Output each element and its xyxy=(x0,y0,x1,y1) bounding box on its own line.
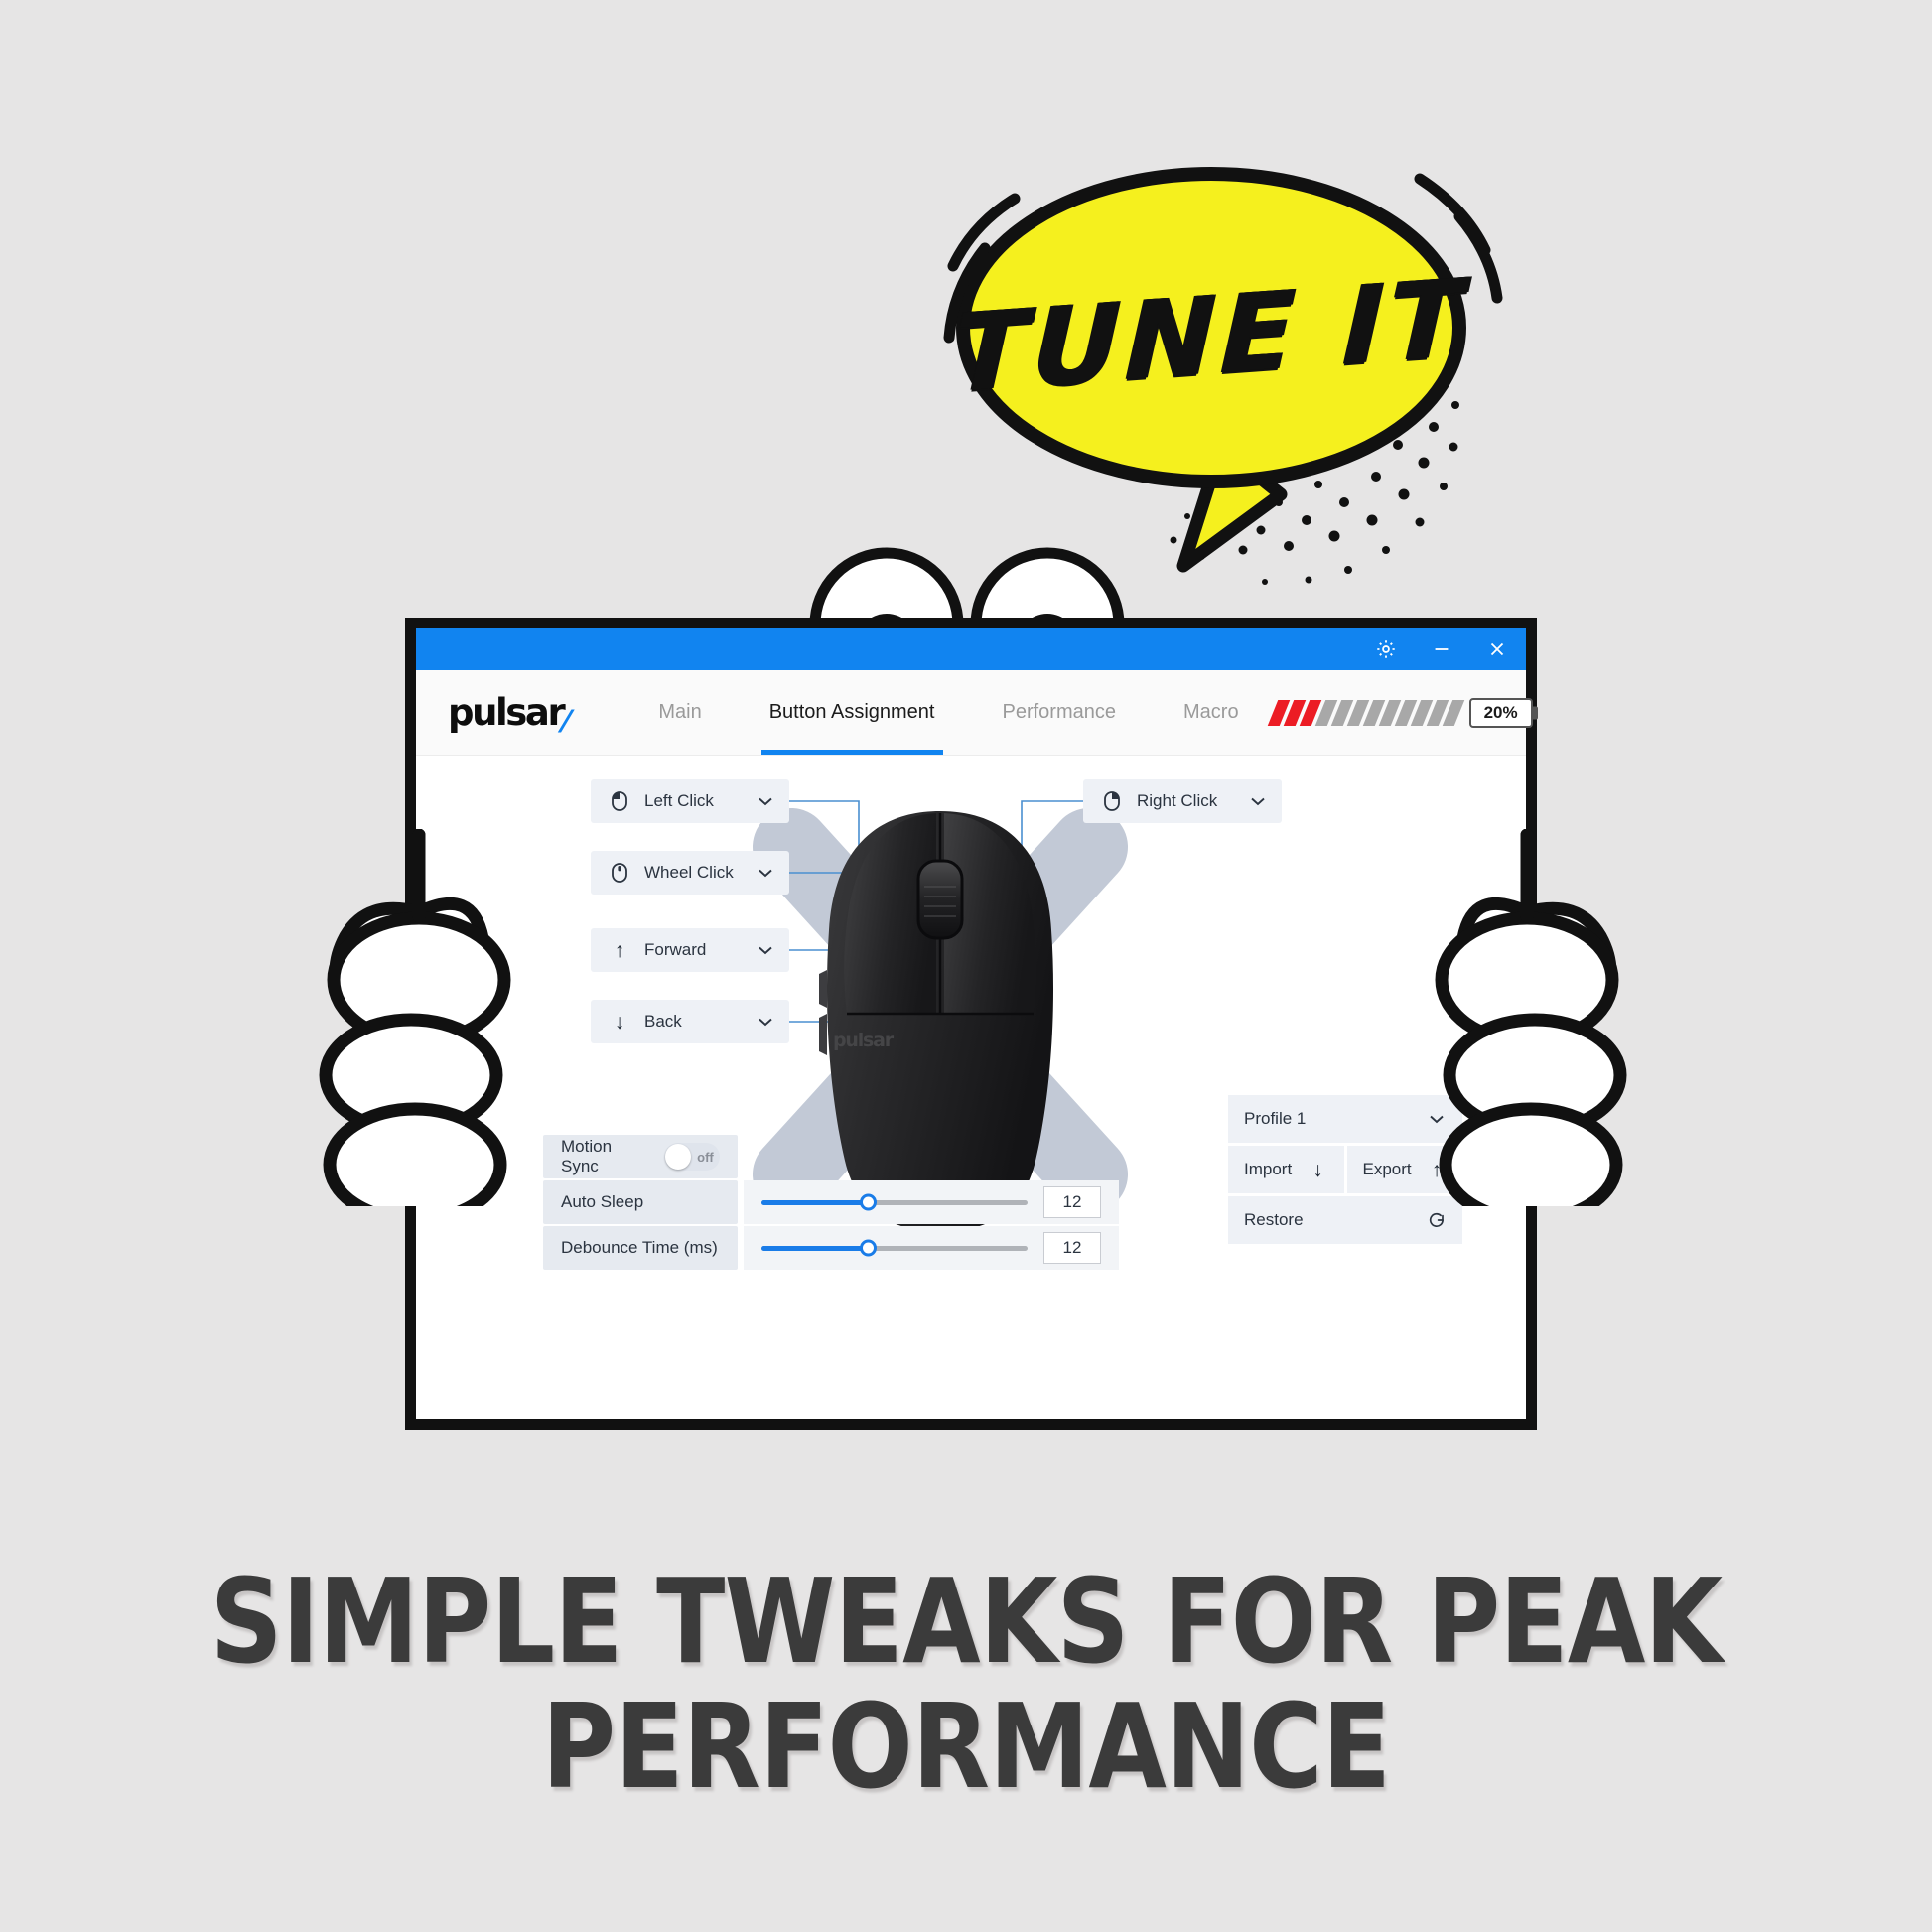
arrow-down-icon: ↓ xyxy=(609,1012,630,1033)
setting-auto-sleep: Auto Sleep 12 xyxy=(543,1180,1119,1224)
minimize-icon[interactable] xyxy=(1431,638,1452,660)
slider-knob[interactable] xyxy=(860,1240,877,1257)
restore-label: Restore xyxy=(1244,1210,1304,1230)
mouse-illustration: pulsar xyxy=(791,803,1089,1240)
auto-sleep-value[interactable]: 12 xyxy=(1043,1186,1101,1218)
nav-tabs: Main Button Assignment Performance Macro xyxy=(624,670,1272,755)
app-navbar: pulsar⁄ Main Button Assignment Performan… xyxy=(416,670,1526,756)
auto-sleep-slider[interactable] xyxy=(761,1200,1028,1205)
setting-debounce-time: Debounce Time (ms) 12 xyxy=(543,1226,1119,1270)
toggle-state-label: off xyxy=(697,1150,714,1165)
button-assignment-content: pulsar Left Click Wheel Click ↑ Forward xyxy=(416,756,1526,1419)
dropdown-label: Forward xyxy=(644,940,756,960)
window-titlebar xyxy=(416,628,1526,670)
chevron-down-icon[interactable] xyxy=(756,940,775,960)
tab-button-assignment[interactable]: Button Assignment xyxy=(736,670,969,755)
close-icon[interactable] xyxy=(1486,638,1508,660)
battery-indicator: 20% xyxy=(1273,698,1533,728)
mouse-left-button-icon xyxy=(609,791,630,811)
slider-fill xyxy=(761,1200,868,1205)
bolt-icon: ⁄ xyxy=(564,705,567,740)
tab-macro[interactable]: Macro xyxy=(1150,670,1273,755)
auto-sleep-slider-area: 12 xyxy=(744,1180,1119,1224)
svg-text:pulsar: pulsar xyxy=(833,1030,895,1051)
mouse-side-button-forward xyxy=(819,970,827,1008)
cartoon-hand-right xyxy=(1410,829,1638,1206)
motion-sync-toggle[interactable]: off xyxy=(664,1143,720,1171)
dropdown-left-click[interactable]: Left Click xyxy=(591,779,789,823)
toggle-knob xyxy=(665,1144,691,1170)
chevron-down-icon[interactable] xyxy=(756,863,775,883)
finger-3 xyxy=(1446,1109,1616,1206)
headline-line-1: SIMPLE TWEAKS FOR PEAK xyxy=(135,1559,1797,1684)
auto-sleep-label: Auto Sleep xyxy=(543,1180,738,1224)
mouse-wheel xyxy=(918,861,962,938)
slider-fill xyxy=(761,1246,868,1251)
settings-icon[interactable] xyxy=(1375,638,1397,660)
slider-knob[interactable] xyxy=(860,1194,877,1211)
battery-percent: 20% xyxy=(1469,698,1533,728)
arrow-up-icon: ↑ xyxy=(609,940,630,961)
headline: SIMPLE TWEAKS FOR PEAK PERFORMANCE xyxy=(0,1559,1932,1810)
bubble-body xyxy=(963,174,1459,482)
dropdown-label: Left Click xyxy=(644,791,756,811)
mouse-right-button-icon xyxy=(1101,791,1123,811)
pulsar-logo: pulsar⁄ xyxy=(448,691,563,734)
debounce-slider-area: 12 xyxy=(744,1226,1119,1270)
debounce-time-value[interactable]: 12 xyxy=(1043,1232,1101,1264)
chevron-down-icon[interactable] xyxy=(756,1012,775,1032)
headline-line-2: PERFORMANCE xyxy=(135,1684,1797,1809)
cartoon-hand-left xyxy=(308,829,536,1206)
dropdown-right-click[interactable]: Right Click xyxy=(1083,779,1282,823)
mouse-wheel-icon xyxy=(609,863,630,883)
debounce-slider[interactable] xyxy=(761,1246,1028,1251)
arrow-down-icon: ↓ xyxy=(1309,1160,1328,1179)
motion-sync-row: Motion Sync off xyxy=(543,1135,738,1178)
import-label: Import xyxy=(1244,1160,1292,1179)
finger-3 xyxy=(330,1109,500,1206)
dropdown-label: Wheel Click xyxy=(644,863,756,883)
chevron-down-icon[interactable] xyxy=(756,791,775,811)
chevron-down-icon[interactable] xyxy=(1248,791,1268,811)
dropdown-forward[interactable]: ↑ Forward xyxy=(591,928,789,972)
battery-bars xyxy=(1273,700,1459,726)
tab-performance[interactable]: Performance xyxy=(969,670,1151,755)
dropdown-label: Right Click xyxy=(1137,791,1248,811)
setting-motion-sync: Motion Sync off xyxy=(543,1135,738,1178)
profile-label: Profile 1 xyxy=(1244,1109,1306,1129)
dropdown-wheel-click[interactable]: Wheel Click xyxy=(591,851,789,895)
debounce-time-label: Debounce Time (ms) xyxy=(543,1226,738,1270)
mouse-side-button-back xyxy=(819,1014,827,1055)
pulsar-app-window: pulsar⁄ Main Button Assignment Performan… xyxy=(405,618,1537,1430)
dropdown-label: Back xyxy=(644,1012,756,1032)
import-button[interactable]: Import ↓ xyxy=(1228,1146,1344,1193)
refresh-icon[interactable] xyxy=(1427,1210,1447,1230)
dropdown-back[interactable]: ↓ Back xyxy=(591,1000,789,1043)
motion-sync-label: Motion Sync xyxy=(561,1137,650,1176)
brand-name: pulsar xyxy=(448,691,563,734)
export-label: Export xyxy=(1363,1160,1412,1179)
tab-main[interactable]: Main xyxy=(624,670,735,755)
